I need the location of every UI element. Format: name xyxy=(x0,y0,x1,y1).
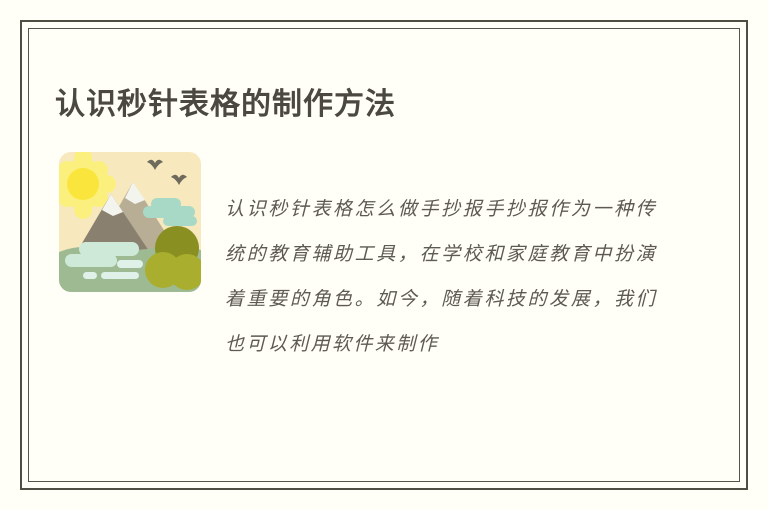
article-body-text: 认识秒针表格怎么做手抄报手抄报作为一种传统的教育辅助工具，在学校和家庭教育中扮演… xyxy=(225,187,657,367)
page-title: 认识秒针表格的制作方法 xyxy=(55,85,396,125)
mountain-landscape-illustration xyxy=(55,148,205,296)
article-content: 认识秒针表格的制作方法 xyxy=(28,28,740,482)
article-page: 认识秒针表格的制作方法 xyxy=(0,0,768,510)
